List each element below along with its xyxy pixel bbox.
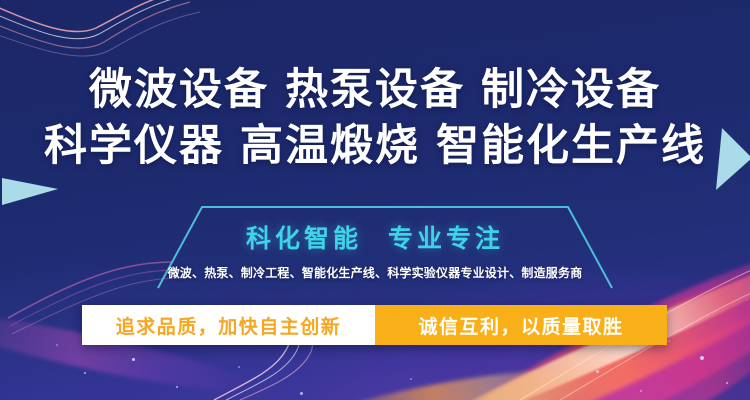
slogan-bars: 追求品质，加快自主创新 诚信互利，以质量取胜 [82, 305, 667, 345]
slogan: 科化智能专业专注 [0, 222, 750, 256]
promo-banner: 微波设备热泵设备制冷设备 科学仪器高温煅烧智能化生产线 科化智能专业专注 微波、… [0, 0, 750, 400]
sparkle [726, 382, 728, 384]
headline: 微波设备热泵设备制冷设备 科学仪器高温煅烧智能化生产线 [0, 62, 750, 174]
sparkle [176, 386, 178, 388]
slogan-bar-right: 诚信互利，以质量取胜 [375, 305, 667, 345]
headline-line1-part3: 制冷设备 [481, 65, 661, 115]
headline-line-1: 微波设备热泵设备制冷设备 [0, 62, 750, 118]
headline-line2-part3: 智能化生产线 [436, 121, 706, 171]
sparkle [410, 378, 412, 380]
sparkle [132, 358, 135, 361]
headline-line2-part2: 高温煅烧 [240, 121, 420, 171]
headline-line2-part1: 科学仪器 [44, 121, 224, 171]
sparkle [700, 356, 704, 360]
sparkle [640, 390, 642, 392]
slogan-right: 专业专注 [388, 224, 504, 253]
sparkle [56, 344, 58, 346]
headline-line1-part1: 微波设备 [89, 65, 269, 115]
headline-line-2: 科学仪器高温煅烧智能化生产线 [0, 118, 750, 174]
triangle-right-icon [2, 176, 60, 206]
headline-line1-part2: 热泵设备 [285, 65, 465, 115]
slogan-bar-left: 追求品质，加快自主创新 [82, 305, 375, 345]
sparkle [596, 370, 599, 373]
sparkle [300, 392, 303, 395]
slogan-left: 科化智能 [246, 224, 362, 253]
subline: 微波、热泵、制冷工程、智能化生产线、科学实验仪器专业设计、制造服务商 [0, 265, 750, 282]
sparkle [84, 372, 86, 374]
sparkle [668, 340, 670, 342]
sparkle [238, 366, 240, 368]
